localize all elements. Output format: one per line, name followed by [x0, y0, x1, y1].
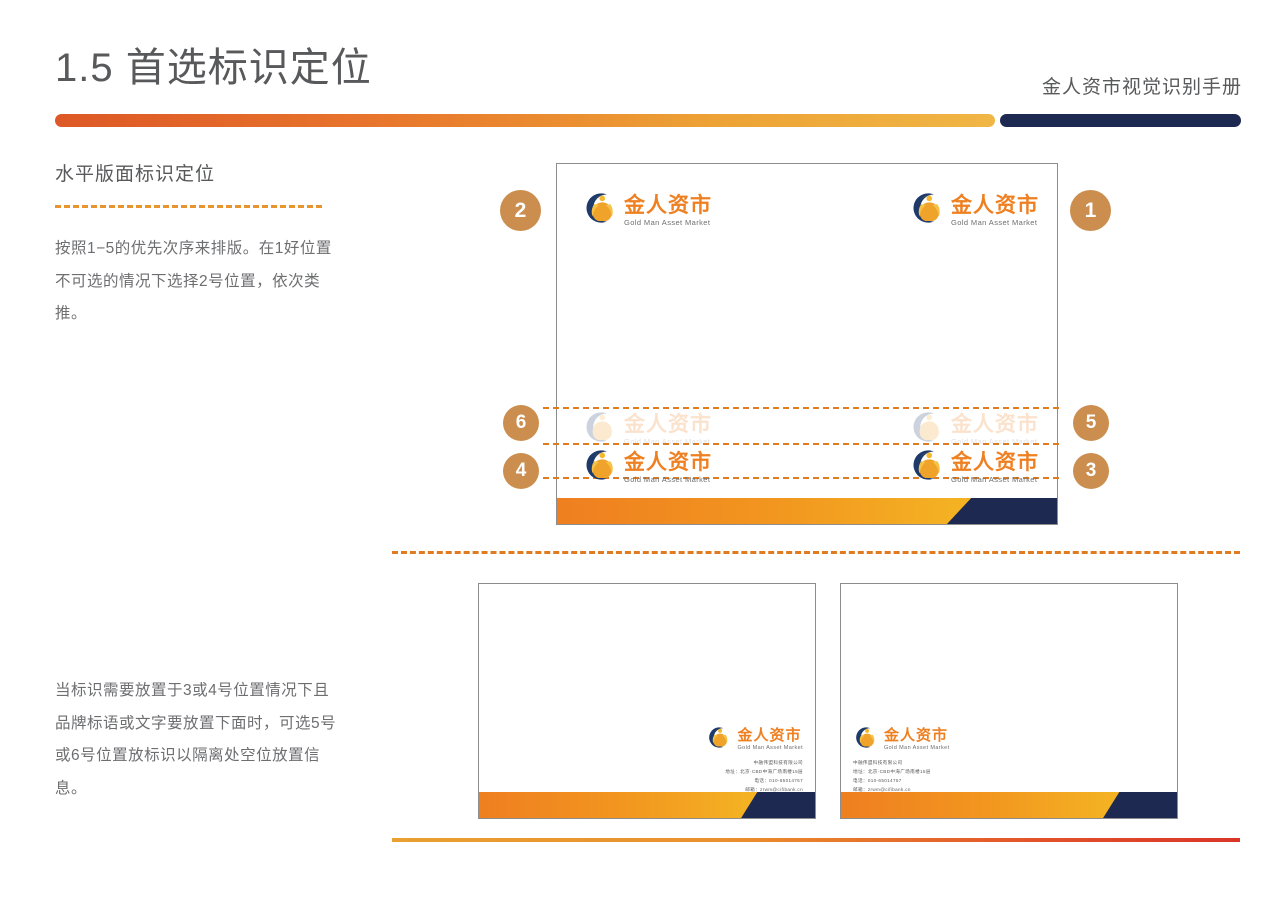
header-rule-navy	[1000, 114, 1241, 127]
mid-dashed-divider	[392, 551, 1240, 554]
logo-mark-icon	[909, 447, 945, 488]
logo-cn-name: 金人资市	[951, 195, 1039, 216]
hero-layout-card: 金人资市 Gold Man Asset Market 金人资市 Gold Man…	[556, 163, 1058, 525]
note-paragraph: 当标识需要放置于3或4号位置情况下且品牌标语或文字要放置下面时，可选5号或6号位…	[55, 675, 345, 805]
example-card-left: 金人资市 Gold Man Asset Market 中融伟盟科技有限公司 地址…	[478, 583, 816, 819]
contact-phone: 电话：010-65014757	[725, 777, 803, 786]
header-rule-orange	[55, 114, 995, 127]
logo-en-name: Gold Man Asset Market	[624, 438, 712, 446]
logo-mark-icon	[909, 409, 945, 450]
hero-card-footer-bar	[557, 498, 1057, 524]
card-footer-bar	[841, 792, 1177, 818]
logo-cn-name: 金人资市	[884, 728, 950, 743]
position-badge-3[interactable]: 3	[1073, 453, 1109, 489]
logo-en-name: Gold Man Asset Market	[624, 476, 712, 484]
contact-company: 中融伟盟科技有限公司	[853, 759, 931, 768]
logo-cn-name: 金人资市	[951, 414, 1039, 435]
logo-cn-name: 金人资市	[951, 452, 1039, 473]
example-card-right: 金人资市 Gold Man Asset Market 中融伟盟科技有限公司 地址…	[840, 583, 1178, 819]
logo-en-name: Gold Man Asset Market	[884, 746, 950, 752]
logo-position-3-example: 金人资市 Gold Man Asset Market	[853, 725, 950, 755]
logo-mark-icon	[706, 725, 731, 755]
badge-label: 2	[515, 199, 527, 223]
logo-en-name: Gold Man Asset Market	[737, 746, 803, 752]
logo-cn-name: 金人资市	[624, 195, 712, 216]
logo-position-6: 金人资市 Gold Man Asset Market	[582, 409, 712, 450]
logo-mark-icon	[582, 190, 618, 231]
logo-mark-icon	[582, 447, 618, 488]
badge-label: 1	[1085, 199, 1097, 223]
logo-mark-icon	[853, 725, 878, 755]
logo-position-2: 金人资市 Gold Man Asset Market	[582, 190, 712, 231]
page-title: 1.5 首选标识定位	[55, 48, 372, 88]
logo-position-4-example: 金人资市 Gold Man Asset Market	[706, 725, 803, 755]
logo-position-5: 金人资市 Gold Man Asset Market	[909, 409, 1039, 450]
position-badge-5[interactable]: 5	[1073, 405, 1109, 441]
badge-label: 3	[1086, 460, 1097, 482]
logo-en-name: Gold Man Asset Market	[951, 476, 1039, 484]
contact-phone: 电话：010-65014757	[853, 777, 931, 786]
header-subtitle: 金人资市视觉识别手册	[1042, 72, 1242, 99]
logo-en-name: Gold Man Asset Market	[624, 219, 712, 227]
logo-position-3: 金人资市 Gold Man Asset Market	[909, 447, 1039, 488]
logo-cn-name: 金人资市	[737, 728, 803, 743]
logo-mark-icon	[909, 190, 945, 231]
position-badge-6[interactable]: 6	[503, 405, 539, 441]
badge-label: 4	[516, 460, 527, 482]
logo-en-name: Gold Man Asset Market	[951, 219, 1039, 227]
position-badge-1[interactable]: 1	[1070, 190, 1111, 231]
logo-en-name: Gold Man Asset Market	[951, 438, 1039, 446]
intro-paragraph: 按照1−5的优先次序来排版。在1好位置不可选的情况下选择2号位置，依次类推。	[55, 233, 345, 331]
logo-mark-icon	[582, 409, 618, 450]
logo-cn-name: 金人资市	[624, 452, 712, 473]
bottom-gradient-rule	[392, 838, 1240, 842]
contact-address: 地址：北京·CBD中海广场南楼15层	[725, 768, 803, 777]
contact-address: 地址：北京·CBD中海广场南楼15层	[853, 768, 931, 777]
position-badge-2[interactable]: 2	[500, 190, 541, 231]
position-badge-4[interactable]: 4	[503, 453, 539, 489]
logo-cn-name: 金人资市	[624, 414, 712, 435]
badge-label: 5	[1086, 412, 1097, 434]
section-heading: 水平版面标识定位	[55, 159, 215, 186]
logo-position-1: 金人资市 Gold Man Asset Market	[909, 190, 1039, 231]
card-footer-bar	[479, 792, 815, 818]
badge-label: 6	[516, 412, 527, 434]
logo-position-4: 金人资市 Gold Man Asset Market	[582, 447, 712, 488]
heading-dashed-rule	[55, 205, 322, 208]
contact-company: 中融伟盟科技有限公司	[725, 759, 803, 768]
